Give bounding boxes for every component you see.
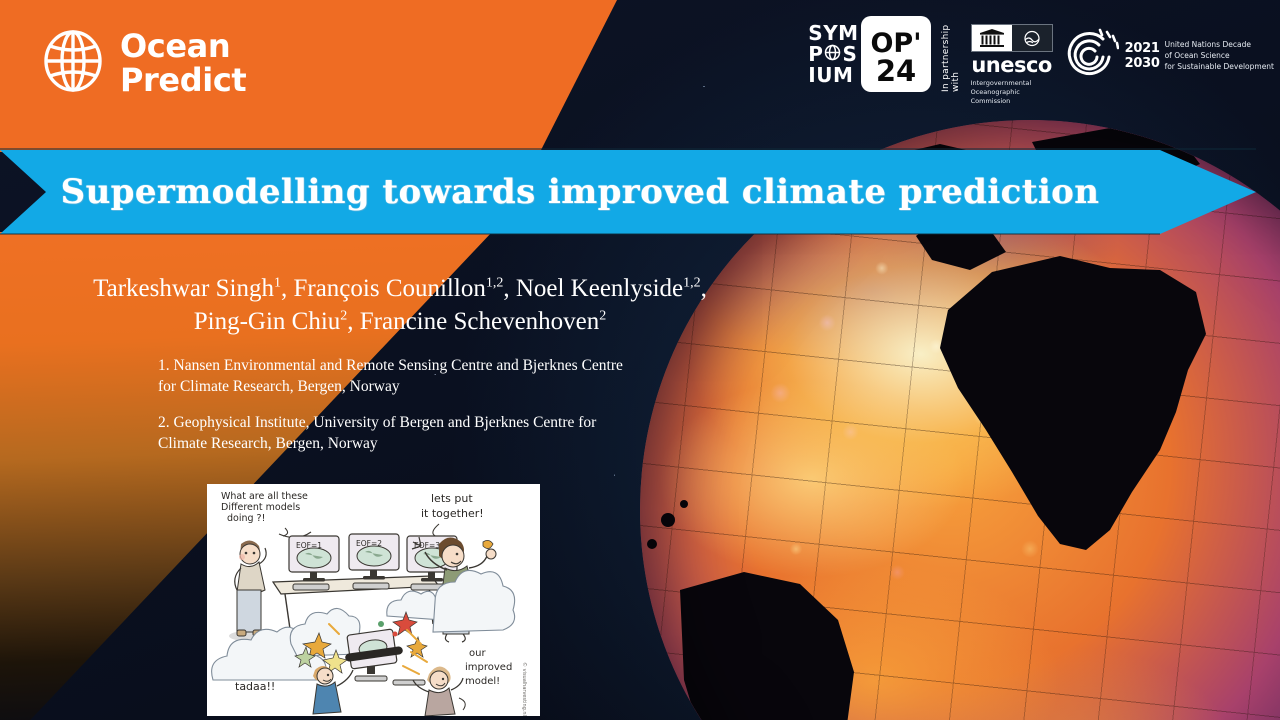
partner-logo-bar: SYM P S IUM bbox=[808, 16, 1274, 105]
svg-text:24: 24 bbox=[875, 54, 915, 87]
affiliations: 1. Nansen Environmental and Remote Sensi… bbox=[158, 355, 628, 469]
unesco-subtitle: Intergovernmental Oceanographic Commissi… bbox=[971, 79, 1032, 105]
decade-years: 2021 2030 bbox=[1125, 42, 1160, 70]
symposium-line-2-a: P bbox=[808, 44, 823, 65]
unesco-emblems bbox=[971, 24, 1053, 52]
affiliation-1: 1. Nansen Environmental and Remote Sensi… bbox=[158, 355, 628, 398]
partnership-label: In partnership with bbox=[941, 16, 961, 92]
presentation-slide: Ocean Predict SYM P bbox=[0, 0, 1280, 720]
ocean-decade-wave-icon bbox=[1063, 26, 1119, 87]
svg-text:lets put: lets put bbox=[431, 492, 473, 505]
globe-icon bbox=[824, 44, 841, 65]
unesco-sub-line-1: Intergovernmental bbox=[971, 79, 1032, 88]
decade-desc-line-2: of Ocean Science bbox=[1165, 51, 1274, 62]
brand-line-2: Predict bbox=[120, 64, 246, 98]
author-counillon-affil: 1,2 bbox=[486, 276, 504, 291]
svg-text:tadaa!!: tadaa!! bbox=[235, 680, 275, 693]
op24-badge[interactable]: OP' 24 bbox=[861, 16, 931, 92]
cartoon-illustration: What are all these Different models doin… bbox=[207, 484, 540, 716]
page-title: Supermodelling towards improved climate … bbox=[0, 150, 1160, 234]
unesco-sub-line-3: Commission bbox=[971, 97, 1032, 106]
symposium-op24-logo[interactable]: SYM P S IUM bbox=[808, 16, 930, 92]
svg-text:doing ?!: doing ?! bbox=[227, 513, 265, 524]
author-keenlyside: , Noel Keenlyside bbox=[503, 275, 683, 302]
unesco-ioc-logo[interactable]: unesco Intergovernmental Oceanographic C… bbox=[971, 24, 1053, 105]
author-chiu: Ping-Gin Chiu bbox=[194, 308, 341, 335]
unesco-wordmark: unesco bbox=[971, 55, 1052, 76]
oceanpredict-logo[interactable]: Ocean Predict bbox=[42, 30, 246, 98]
decade-year-from: 2021 bbox=[1125, 42, 1160, 56]
svg-text:Different models: Different models bbox=[221, 502, 300, 513]
decade-desc-line-1: United Nations Decade bbox=[1165, 40, 1274, 51]
decade-description: United Nations Decade of Ocean Science f… bbox=[1165, 40, 1274, 73]
symposium-line-2-b: S bbox=[842, 44, 857, 65]
decade-desc-line-3: for Sustainable Development bbox=[1165, 62, 1274, 73]
svg-text:improved: improved bbox=[465, 662, 512, 673]
authors-line-1-tail: , bbox=[701, 275, 707, 302]
unesco-temple-icon bbox=[972, 25, 1012, 51]
decade-year-to: 2030 bbox=[1125, 57, 1160, 71]
globe-icon bbox=[42, 30, 104, 97]
symposium-line-1: SYM bbox=[808, 23, 858, 44]
author-singh: Tarkeshwar Singh bbox=[93, 275, 274, 302]
authors-list: Tarkeshwar Singh1, François Counillon1,2… bbox=[60, 272, 740, 339]
ioc-emblem-icon bbox=[1012, 25, 1052, 51]
symposium-line-3: IUM bbox=[808, 65, 853, 86]
svg-text:EOF=2: EOF=2 bbox=[356, 539, 382, 548]
author-schevenhoven-affil: 2 bbox=[599, 309, 606, 324]
oceanpredict-wordmark: Ocean Predict bbox=[120, 30, 246, 98]
ocean-decade-logo[interactable]: 2021 2030 United Nations Decade of Ocean… bbox=[1063, 26, 1274, 87]
svg-text:What are all these: What are all these bbox=[221, 491, 308, 502]
unesco-sub-line-2: Oceanographic bbox=[971, 88, 1032, 97]
authors-line-1: Tarkeshwar Singh1, François Counillon1,2… bbox=[60, 272, 740, 305]
authors-line-2: Ping-Gin Chiu2, Francine Schevenhoven2 bbox=[60, 305, 740, 338]
svg-text:EOF=3: EOF=3 bbox=[414, 541, 440, 550]
symposium-wordmark: SYM P S IUM bbox=[808, 23, 858, 86]
ocean-decade-text: 2021 2030 United Nations Decade of Ocean… bbox=[1125, 40, 1274, 73]
author-schevenhoven: , Francine Schevenhoven bbox=[347, 308, 599, 335]
brand-line-1: Ocean bbox=[120, 30, 246, 64]
svg-text:it together!: it together! bbox=[421, 507, 484, 520]
affiliation-2: 2. Geophysical Institute, University of … bbox=[158, 412, 628, 455]
svg-text:model!: model! bbox=[465, 676, 500, 687]
cartoon-signature: © visualharvesting.nl bbox=[521, 662, 528, 716]
svg-text:EOF=1: EOF=1 bbox=[296, 541, 322, 550]
svg-text:our: our bbox=[469, 648, 486, 659]
author-singh-affil: 1 bbox=[274, 276, 281, 291]
author-keenlyside-affil: 1,2 bbox=[683, 276, 701, 291]
author-counillon: , François Counillon bbox=[281, 275, 486, 302]
